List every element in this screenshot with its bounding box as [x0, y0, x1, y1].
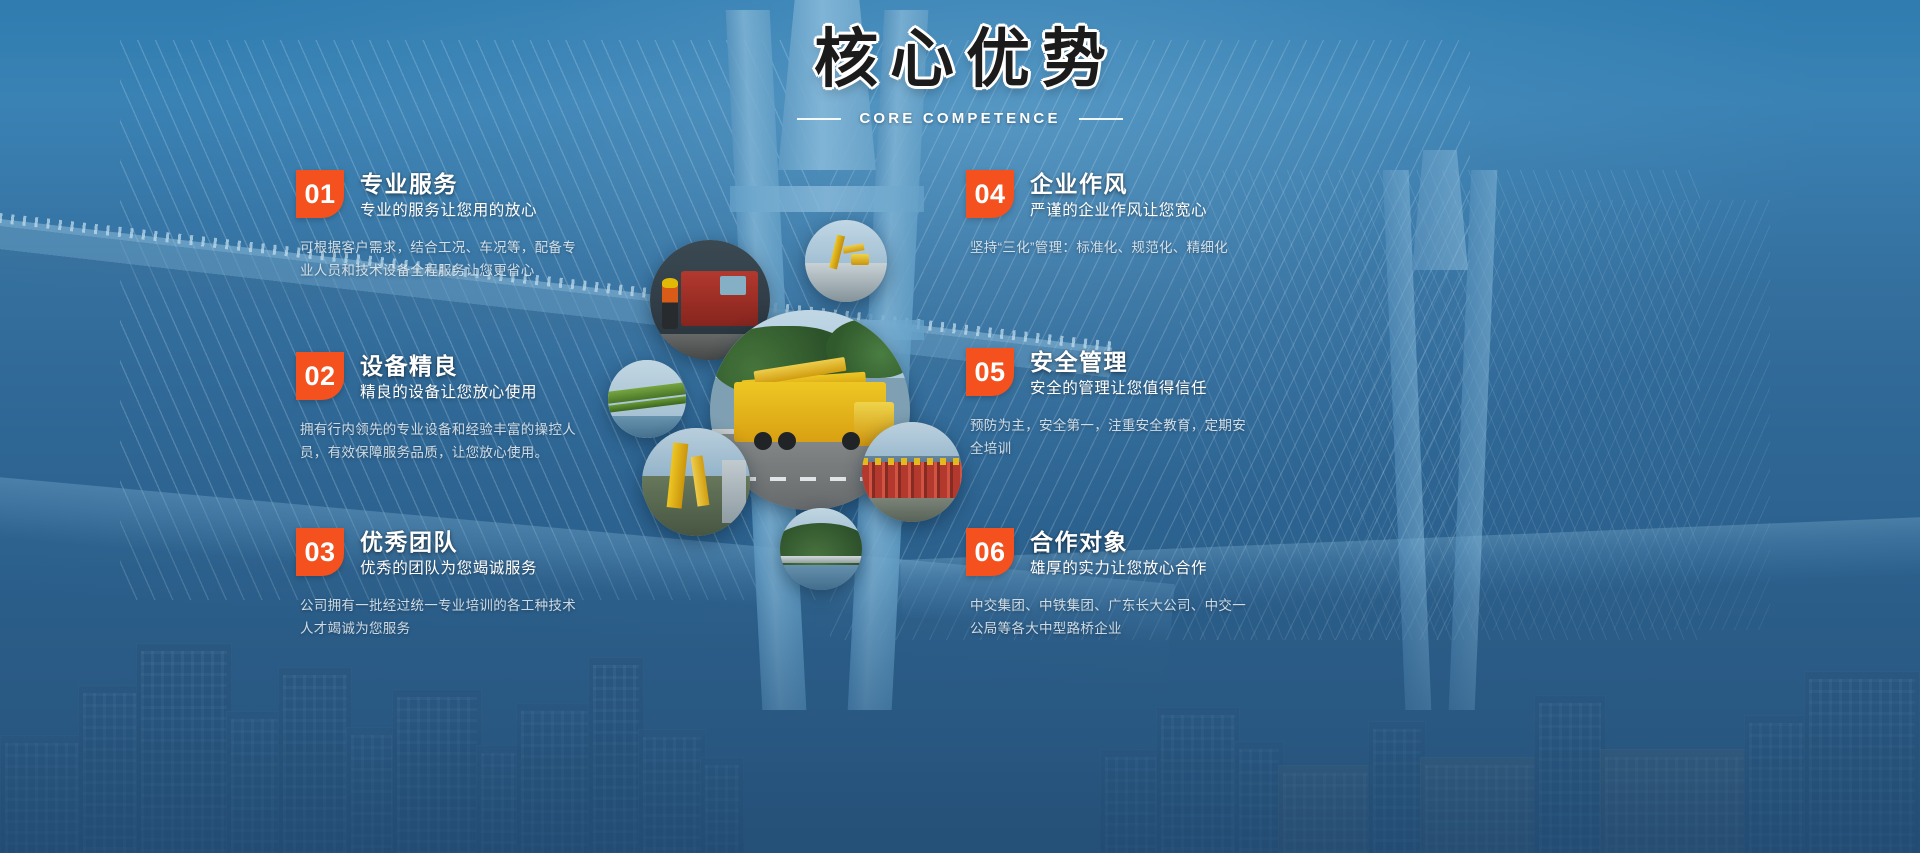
- feature-item-02[interactable]: 02 设备精良 精良的设备让您放心使用 拥有行内领先的专业设备和经验丰富的操控人…: [296, 352, 626, 465]
- feature-description: 可根据客户需求，结合工况、车况等，配备专业人员和技术设备全程服务让您更省心: [300, 236, 576, 283]
- page-title: 核心优势: [0, 22, 1920, 96]
- divider-line-right: [1079, 118, 1123, 120]
- feature-subtitle: 专业的服务让您用的放心: [360, 201, 537, 221]
- feature-head: 03 优秀团队 优秀的团队为您竭诚服务: [296, 528, 626, 580]
- feature-number-badge: 03: [296, 528, 344, 576]
- feature-title: 企业作风: [1030, 171, 1207, 197]
- feature-head: 05 安全管理 安全的管理让您值得信任: [966, 348, 1296, 400]
- feature-item-04[interactable]: 04 企业作风 严谨的企业作风让您宽心 坚持“三化”管理：标准化、规范化、精细化: [966, 170, 1296, 259]
- feature-title: 专业服务: [360, 171, 537, 197]
- feature-number-badge: 02: [296, 352, 344, 400]
- feature-description: 拥有行内领先的专业设备和经验丰富的操控人员，有效保障服务品质，让您放心使用。: [300, 418, 576, 465]
- feature-head: 02 设备精良 精良的设备让您放心使用: [296, 352, 626, 404]
- feature-description: 坚持“三化”管理：标准化、规范化、精细化: [970, 236, 1246, 260]
- feature-subtitle: 雄厚的实力让您放心合作: [1030, 559, 1207, 579]
- feature-title: 优秀团队: [360, 529, 537, 555]
- feature-subtitle: 安全的管理让您值得信任: [1030, 379, 1207, 399]
- bridge-over-green-hillside-photo: [780, 508, 862, 590]
- feature-subtitle: 优秀的团队为您竭诚服务: [360, 559, 537, 579]
- feature-description: 中交集团、中铁集团、广东长大公司、中交一公局等各大中型路桥企业: [970, 594, 1246, 641]
- yellow-machinery-at-construction-site-photo: [642, 428, 750, 536]
- feature-item-06[interactable]: 06 合作对象 雄厚的实力让您放心合作 中交集团、中铁集团、广东长大公司、中交一…: [966, 528, 1296, 641]
- feature-title: 设备精良: [360, 353, 537, 379]
- core-competence-banner: 核心优势 CORE COMPETENCE: [0, 0, 1920, 853]
- subtitle-row: CORE COMPETENCE: [0, 110, 1920, 127]
- inspection-platform-on-bridge-deck-photo: [805, 220, 887, 302]
- feature-item-05[interactable]: 05 安全管理 安全的管理让您值得信任 预防为主，安全第一，注重安全教育，定期安…: [966, 348, 1296, 461]
- feature-description: 公司拥有一批经过统一专业培训的各工种技术人才竭诚为您服务: [300, 594, 576, 641]
- feature-item-03[interactable]: 03 优秀团队 优秀的团队为您竭诚服务 公司拥有一批经过统一专业培训的各工种技术…: [296, 528, 626, 641]
- feature-description: 预防为主，安全第一，注重安全教育，定期安全培训: [970, 414, 1246, 461]
- banner-header: 核心优势 CORE COMPETENCE: [0, 22, 1920, 127]
- feature-number-badge: 04: [966, 170, 1014, 218]
- page-subtitle: CORE COMPETENCE: [859, 110, 1060, 127]
- feature-head: 04 企业作风 严谨的企业作风让您宽心: [966, 170, 1296, 222]
- feature-title: 安全管理: [1030, 349, 1207, 375]
- feature-subtitle: 精良的设备让您放心使用: [360, 383, 537, 403]
- work-crew-in-red-uniforms-photo: [862, 422, 962, 522]
- feature-head: 01 专业服务 专业的服务让您用的放心: [296, 170, 626, 222]
- feature-number-badge: 06: [966, 528, 1014, 576]
- photo-cluster: [600, 210, 1000, 610]
- feature-title: 合作对象: [1030, 529, 1207, 555]
- feature-number-badge: 05: [966, 348, 1014, 396]
- divider-line-left: [797, 118, 841, 120]
- feature-number-badge: 01: [296, 170, 344, 218]
- feature-subtitle: 严谨的企业作风让您宽心: [1030, 201, 1207, 221]
- feature-head: 06 合作对象 雄厚的实力让您放心合作: [966, 528, 1296, 580]
- feature-item-01[interactable]: 01 专业服务 专业的服务让您用的放心 可根据客户需求，结合工况、车况等，配备专…: [296, 170, 626, 283]
